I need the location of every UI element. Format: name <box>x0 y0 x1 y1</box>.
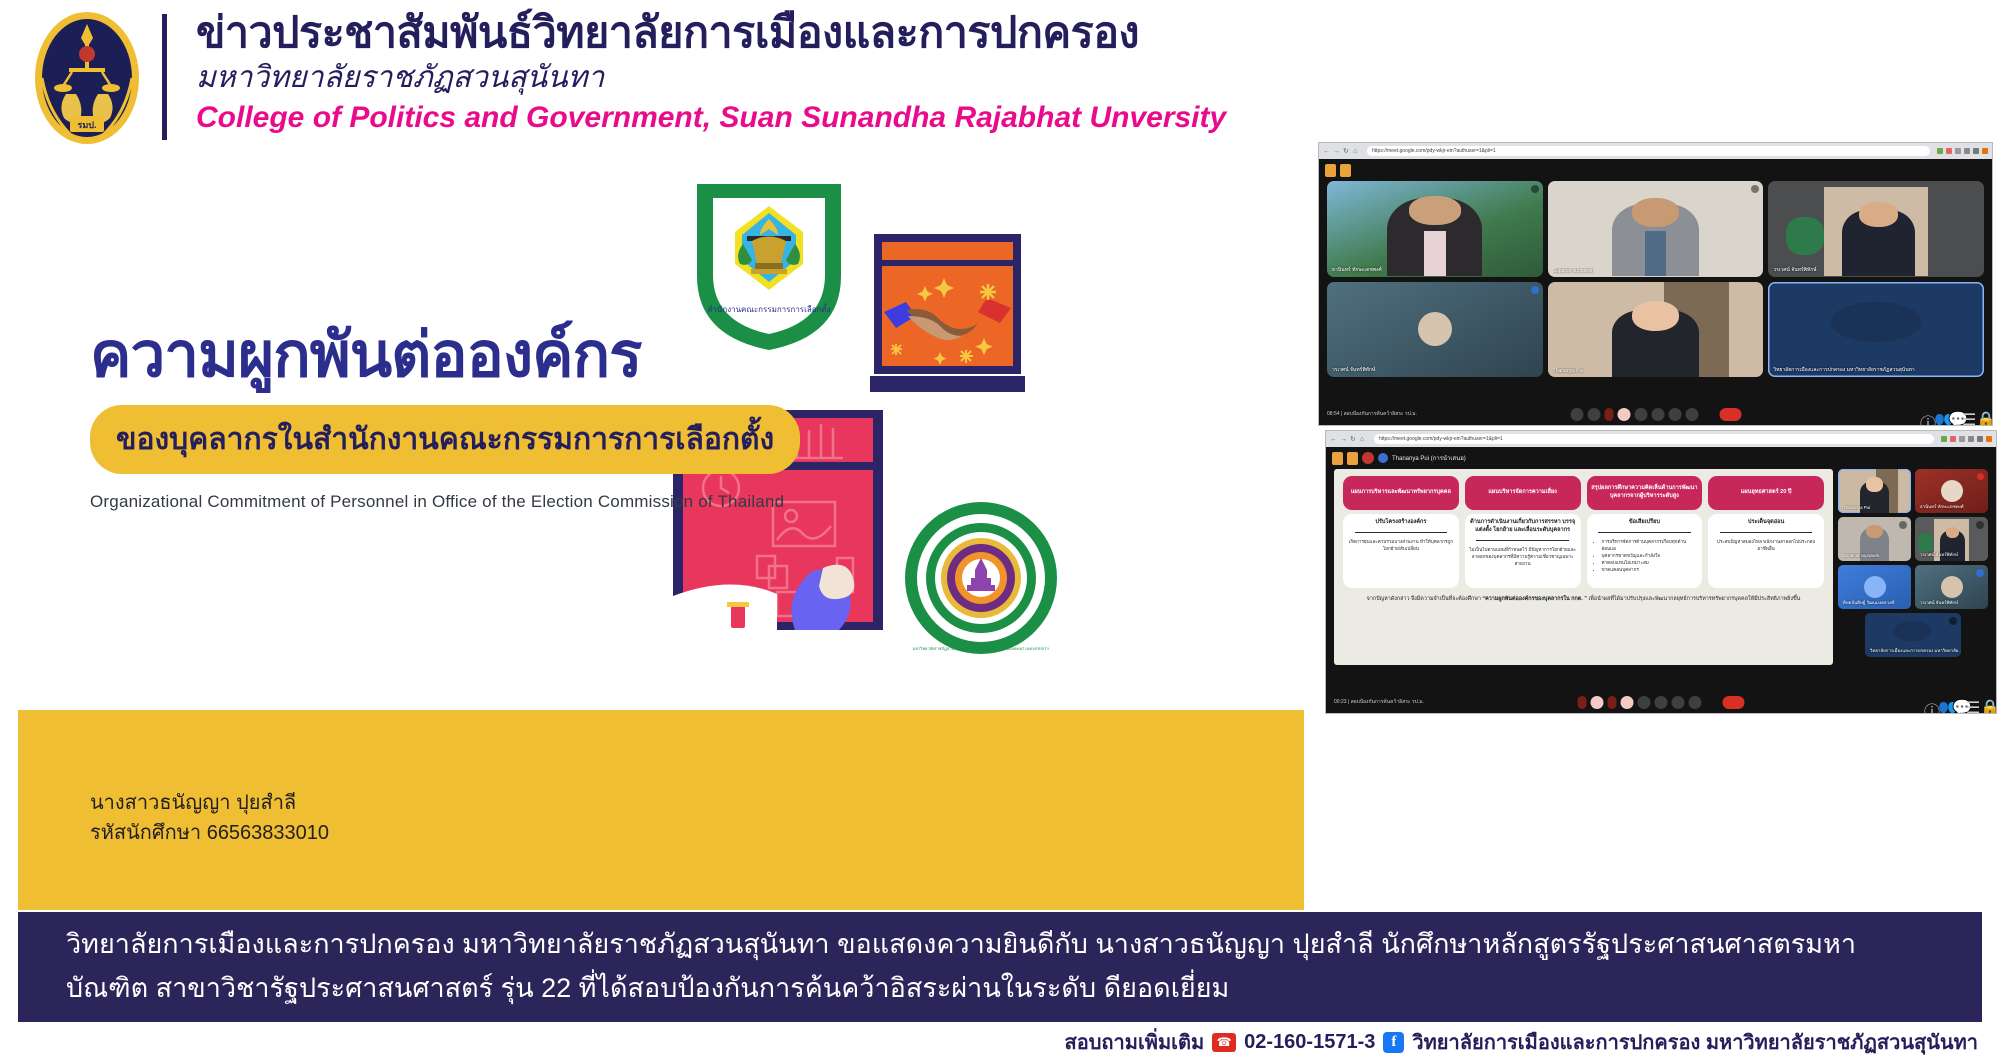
chat-icon[interactable]: 💬 <box>1948 410 1956 418</box>
more-menu-button[interactable] <box>1706 696 1719 709</box>
slide-card: แผนบริหารจัดการความเสี่ยง ด้านการดำเนินง… <box>1465 476 1581 588</box>
captions-button[interactable] <box>1634 408 1647 421</box>
emoji-reaction-button[interactable] <box>1655 696 1668 709</box>
emoji-reaction-button[interactable] <box>1651 408 1664 421</box>
student-id: รหัสนักศึกษา 66563833010 <box>90 818 329 848</box>
extension-icon-grey[interactable] <box>1959 436 1965 442</box>
header-text-block: ข่าวประชาสัมพันธ์วิทยาลัยการเมืองและการป… <box>196 10 1226 135</box>
slide-card-text: เกิดการยุบและควบรวมบางส่วนงาน ทำให้บุคลา… <box>1347 538 1455 552</box>
slide-card-bullets: การบริหารจัดการด้านบุคลากรเกือบทุกด้านอ่… <box>1591 538 1699 574</box>
meeting-details-icon[interactable]: ⓘ <box>1924 698 1932 706</box>
participant-name: วิทยาลัยการเมืองและการปกครอง มหาวิทยาลัย… <box>1870 647 1961 654</box>
bookmark-icon[interactable] <box>1964 148 1970 154</box>
participant-name: วรเวศน์ จันทร์พิทักษ์ <box>1920 599 1958 606</box>
ssru-university-seal-icon: มหาวิทยาลัยราชภัฏสวนสุนันทา SUAN SUNANDH… <box>903 500 1059 656</box>
microphone-off-button[interactable] <box>1591 696 1604 709</box>
forward-arrow-icon[interactable]: → <box>1333 148 1340 155</box>
page-header: รมป. ข่าวประชาสัมพันธ์วิทยาลัยการเมืองแล… <box>0 0 2000 160</box>
mic-status-icon <box>1531 286 1539 294</box>
side-participant-strip: Thananya Pui ธานินทร์ ทักษะเตชพงศ์ Supan… <box>1838 469 1988 665</box>
mic-status-icon <box>1751 185 1759 193</box>
meet-topbar <box>1319 159 1992 181</box>
captions-button[interactable] <box>1638 696 1651 709</box>
bookmark-icon[interactable] <box>1968 436 1974 442</box>
back-arrow-icon[interactable]: ← <box>1323 148 1330 155</box>
participant-name: Thananya Pui <box>1553 368 1584 374</box>
participant-name: วิทยาลัยการเมืองและการปกครอง มหาวิทยาลัย… <box>1773 366 1914 374</box>
poster-title-block: ความผูกพันต่อองค์กร ของบุคลากรในสำนักงาน… <box>90 320 830 512</box>
contact-footer: สอบถามเพิ่มเติม ☎ 02-160-1571-3 f วิทยาล… <box>1065 1027 1979 1057</box>
participant-tile[interactable]: วรเวศน์ จันทร์พิทักษ์ <box>1915 565 1988 609</box>
participant-tile[interactable]: ธานินทร์ ทักษะเตชพงศ์ <box>1327 181 1543 277</box>
banner-line-2: บัณฑิต สาขาวิชารัฐประศาสนศาสตร์ รุ่น 22 … <box>66 968 1942 1010</box>
notes-chip-icon[interactable] <box>1325 164 1336 177</box>
host-controls-icon[interactable]: 🔒 <box>1980 698 1988 706</box>
participant-tile[interactable]: วิทยาลัยการเมืองและการปกครอง มหาวิทยาลัย… <box>1865 613 1961 657</box>
poster-title-subtitle-en: Organizational Commitment of Personnel i… <box>90 492 830 512</box>
college-crest-icon: รมป. <box>28 8 146 148</box>
meet-viewport: Thananya Pui (การนำเสนอ) แผนการบริหารและ… <box>1326 447 1996 713</box>
meet-elapsed-time: 00:23 <box>1334 699 1347 705</box>
camera-off-button[interactable] <box>1617 408 1630 421</box>
extension-icon-red[interactable] <box>1946 148 1952 154</box>
participant-name: ธานินทร์ ทักษะเตชพงศ์ <box>1920 503 1964 510</box>
back-arrow-icon[interactable]: ← <box>1330 436 1337 443</box>
participant-name: ดิษยบันดิษฐ์ วัฒนมงคลวงศ์ <box>1843 599 1894 606</box>
poster-title-pill: ของบุคลากรในสำนักงานคณะกรรมการการเลือกตั… <box>90 405 800 474</box>
poster-title-main: ความผูกพันต่อองค์กร <box>90 320 830 391</box>
camera-off-button[interactable] <box>1621 696 1634 709</box>
mic-muted-icon <box>1976 521 1984 529</box>
participant-name: Supanat supnawin <box>1843 553 1879 558</box>
participants-icon[interactable]: 👥 <box>1934 410 1942 418</box>
slide-card-divider <box>1598 532 1691 533</box>
meet-right-controls: ⓘ 👥 💬 ☰ 🔒 <box>1920 410 1984 418</box>
slide-bullet: การบริหารจัดการด้านบุคลากรเกือบทุกด้านอ่… <box>1602 538 1699 552</box>
slide-card: สรุปผลการศึกษาความคิดเห็นด้านการพัฒนาบุค… <box>1587 476 1703 588</box>
slide-card-text: ไม่เป็นไปตามแผนที่กำหนดไว้ มีปัญหาการโยก… <box>1469 546 1577 567</box>
raise-hand-button[interactable] <box>1685 408 1698 421</box>
participant-tile[interactable]: ธานินทร์ ทักษะเตชพงศ์ <box>1915 469 1988 513</box>
profile-avatar-icon[interactable] <box>1973 148 1979 154</box>
meet-call-controls <box>1570 408 1741 421</box>
meet-topbar: Thananya Pui (การนำเสนอ) <box>1326 447 1996 469</box>
handshake-ballot-illustration <box>870 230 1025 410</box>
participant-name: วรเวศน์ จันทร์พิทักษ์ <box>1920 551 1958 558</box>
google-meet-gallery-screenshot: ← → ↻ ⌂ https://meet.google.com/pdy-wkjr… <box>1318 142 1993 426</box>
participant-tile[interactable]: วรเวศน์ จันทร์พิทักษ์ <box>1915 517 1988 561</box>
poster-artwork: สำนักงานคณะกรรมการการเลือกตั้ง <box>18 170 1304 910</box>
address-bar[interactable]: https://meet.google.com/pdy-wkjr-ein?aut… <box>1367 146 1930 156</box>
shared-slide[interactable]: แผนการบริหารและพัฒนาทรัพยากรบุคคล ปรับโค… <box>1334 469 1833 665</box>
header-divider <box>162 14 167 140</box>
participant-name: Supanat supnawin <box>1553 268 1594 274</box>
slide-card-heading: แผนบริหารจัดการความเสี่ยง <box>1465 476 1581 510</box>
meet-footer-bar: 00:23 | สอบป้องกันการค้นคว้าอิสระ รป.ม. <box>1326 691 1996 713</box>
leave-call-button[interactable] <box>1723 696 1745 709</box>
participant-tile[interactable]: Supanat supnawin <box>1838 517 1911 561</box>
participant-tile[interactable]: ดิษยบันดิษฐ์ วัฒนมงคลวงศ์ <box>1838 565 1911 609</box>
slide-bullet: ค่าตอบแทนไม่เหมาะสม <box>1602 559 1699 566</box>
congratulation-banner: วิทยาลัยการเมืองและการปกครอง มหาวิทยาลัย… <box>18 912 1982 1022</box>
browser-menu-icon[interactable] <box>1986 436 1992 442</box>
presentation-area: แผนการบริหารและพัฒนาทรัพยากรบุคคล ปรับโค… <box>1326 469 1996 665</box>
participant-tile[interactable]: วรเวศน์ จันทร์พิทักษ์ <box>1768 181 1984 277</box>
extension-icon-green[interactable] <box>1937 148 1943 154</box>
camera-caret-button[interactable] <box>1608 696 1617 709</box>
slide-card-divider <box>1720 532 1813 533</box>
meet-footer-status: 08:54 | สอบป้องกันการค้นคว้าอิสระ รป.ม. <box>1327 410 1417 418</box>
presenter-label: Thananya Pui (การนำเสนอ) <box>1392 453 1466 463</box>
participant-tile-selected[interactable]: วิทยาลัยการเมืองและการปกครอง มหาวิทยาลัย… <box>1768 282 1984 378</box>
slide-card-row: แผนการบริหารและพัฒนาทรัพยากรบุคคล ปรับโค… <box>1343 476 1824 588</box>
meet-call-controls <box>1578 696 1745 709</box>
activities-icon[interactable]: ☰ <box>1962 410 1970 418</box>
participant-tile-selected[interactable]: Thananya Pui <box>1838 469 1911 513</box>
notes-chip-icon[interactable] <box>1332 452 1343 465</box>
contact-phone: 02-160-1571-3 <box>1244 1031 1375 1054</box>
slide-card-body: ข้อเสียเปรียบ การบริหารจัดการด้านบุคลากร… <box>1587 514 1703 588</box>
forward-arrow-icon[interactable]: → <box>1340 436 1347 443</box>
activities-icon[interactable]: ☰ <box>1966 698 1974 706</box>
slide-conclusion-part2: เพื่อนำผลที่ได้มาปรับปรุงและพัฒนากลยุทธ์… <box>1587 596 1800 602</box>
meet-title-label: สอบป้องกันการค้นคว้าอิสระ รป.ม. <box>1351 699 1424 705</box>
participant-grid: ธานินทร์ ทักษะเตชพงศ์ Supanat supnawin ว… <box>1319 181 1992 377</box>
slide-card-heading: สรุปผลการศึกษาความคิดเห็นด้านการพัฒนาบุค… <box>1587 476 1703 510</box>
address-bar[interactable]: https://meet.google.com/pdy-wkjr-ein?aut… <box>1374 434 1934 444</box>
mic-muted-icon <box>1899 521 1907 529</box>
slide-card-title: ประเด็นจุดอ่อน <box>1748 519 1784 527</box>
home-icon[interactable]: ⌂ <box>1353 148 1360 155</box>
meet-elapsed-time: 08:54 <box>1327 411 1340 417</box>
ecs-shield-caption: สำนักงานคณะกรรมการการเลือกตั้ง <box>708 303 831 314</box>
slide-card-text: ประสบปัญหาสมองไหล พนักงานลาออกไปประกอบอา… <box>1712 538 1820 552</box>
facebook-icon[interactable]: f <box>1383 1032 1404 1053</box>
mic-status-icon <box>1531 185 1539 193</box>
chrome-extension-icons <box>1937 148 1988 154</box>
participant-name: วรเวศน์ จันทร์พิทักษ์ <box>1773 266 1816 274</box>
header-title-th: ข่าวประชาสัมพันธ์วิทยาลัยการเมืองและการป… <box>196 10 1226 57</box>
document-chip-icon[interactable] <box>1340 164 1351 177</box>
reload-icon[interactable]: ↻ <box>1350 436 1357 443</box>
document-chip-icon[interactable] <box>1347 452 1358 465</box>
more-menu-button[interactable] <box>1702 408 1715 421</box>
chat-icon[interactable]: 💬 <box>1952 698 1960 706</box>
presenting-banner: Thananya Pui (การนำเสนอ) <box>1378 453 1466 463</box>
slide-card-body: ปรับโครงสร้างองค์กร เกิดการยุบและควบรวมบ… <box>1343 514 1459 588</box>
raise-hand-button[interactable] <box>1689 696 1702 709</box>
participant-name: วรเวศน์ จันทร์พิทักษ์ <box>1332 366 1375 374</box>
mic-caret-button[interactable] <box>1578 696 1587 709</box>
google-meet-presentation-screenshot: ← → ↻ ⌂ https://meet.google.com/pdy-wkjr… <box>1325 430 1997 714</box>
slide-conclusion-part1: จากปัญหาดังกล่าว จึงมีความจำเป็นที่จะต้อ… <box>1367 596 1483 602</box>
more-options-button[interactable] <box>1570 408 1583 421</box>
slide-card: แผนการบริหารและพัฒนาทรัพยากรบุคคล ปรับโค… <box>1343 476 1459 588</box>
slide-card-title: ด้านการดำเนินงานเกี่ยวกับการสรรหา บรรจุ … <box>1469 519 1577 535</box>
participant-tile[interactable]: วรเวศน์ จันทร์พิทักษ์ <box>1327 282 1543 378</box>
present-screen-button[interactable] <box>1672 696 1685 709</box>
profile-avatar-icon[interactable] <box>1977 436 1983 442</box>
mic-muted-icon <box>1949 617 1957 625</box>
contact-prefix: สอบถามเพิ่มเติม <box>1065 1026 1205 1058</box>
present-screen-button[interactable] <box>1668 408 1681 421</box>
slide-bullet: บุคลากรขาดขวัญและกำลังใจ <box>1602 552 1699 559</box>
slide-card-heading: แผนยุทธศาสตร์ 20 ปี <box>1708 476 1824 510</box>
microphone-button[interactable] <box>1587 408 1600 421</box>
telephone-icon: ☎ <box>1212 1033 1236 1052</box>
poster-title-pill-label: ของบุคลากรในสำนักงานคณะกรรมการการเลือกตั… <box>116 423 774 456</box>
slide-card-divider <box>1355 532 1448 533</box>
slide-card-title: ข้อเสียเปรียบ <box>1629 519 1660 527</box>
slide-card-heading: แผนการบริหารและพัฒนาทรัพยากรบุคคล <box>1343 476 1459 510</box>
meet-right-controls: ⓘ 👥 💬 ☰ 🔒 <box>1924 698 1988 706</box>
crest-abbrev: รมป. <box>78 120 97 130</box>
participant-tile[interactable]: Thananya Pui <box>1548 282 1764 378</box>
presenter-avatar <box>1378 453 1388 463</box>
participant-tile[interactable]: Supanat supnawin <box>1548 181 1764 277</box>
meet-footer-status: 00:23 | สอบป้องกันการค้นคว้าอิสระ รป.ม. <box>1334 698 1424 706</box>
browser-menu-icon[interactable] <box>1982 148 1988 154</box>
slide-card: แผนยุทธศาสตร์ 20 ปี ประเด็นจุดอ่อน ประสบ… <box>1708 476 1824 588</box>
participant-name: ธานินทร์ ทักษะเตชพงศ์ <box>1332 266 1382 274</box>
extension-icon-red[interactable] <box>1950 436 1956 442</box>
banner-line-1: วิทยาลัยการเมืองและการปกครอง มหาวิทยาลัย… <box>66 924 1942 966</box>
meet-title-label: สอบป้องกันการค้นคว้าอิสระ รป.ม. <box>1344 411 1417 417</box>
header-subtitle-th: มหาวิทยาลัยราชภัฏสวนสุนันทา <box>196 61 1226 96</box>
meet-footer-bar: 08:54 | สอบป้องกันการค้นคว้าอิสระ รป.ม. <box>1319 403 1992 425</box>
host-controls-icon[interactable]: 🔒 <box>1976 410 1984 418</box>
participants-icon[interactable]: 👥 <box>1938 698 1946 706</box>
mic-muted-icon <box>1977 473 1984 480</box>
meet-viewport: ธานินทร์ ทักษะเตชพงศ์ Supanat supnawin ว… <box>1319 159 1992 425</box>
slide-card-body: ด้านการดำเนินงานเกี่ยวกับการสรรหา บรรจุ … <box>1465 514 1581 588</box>
recording-indicator-icon <box>1362 452 1374 464</box>
student-info: นางสาวธนัญญา ปุยสำลี รหัสนักศึกษา 665638… <box>90 788 329 848</box>
student-name: นางสาวธนัญญา ปุยสำลี <box>90 788 329 818</box>
mic-muted-icon <box>1976 569 1984 577</box>
slide-conclusion: จากปัญหาดังกล่าว จึงมีความจำเป็นที่จะต้อ… <box>1343 595 1824 604</box>
leave-call-button[interactable] <box>1719 408 1741 421</box>
slide-card-divider <box>1476 540 1569 541</box>
slide-bullet: ขาดแคลนบุคลากร <box>1602 566 1699 573</box>
contact-facebook-page: วิทยาลัยการเมืองและการปกครอง มหาวิทยาลัย… <box>1412 1026 1978 1058</box>
camera-caret-button[interactable] <box>1604 408 1613 421</box>
header-subtitle-en: College of Politics and Government, Suan… <box>196 101 1226 136</box>
chrome-extension-icons <box>1941 436 1992 442</box>
meeting-details-icon[interactable]: ⓘ <box>1920 410 1928 418</box>
browser-chrome-toolbar: ← → ↻ ⌂ https://meet.google.com/pdy-wkjr… <box>1319 143 1992 159</box>
extension-icon-grey[interactable] <box>1955 148 1961 154</box>
slide-conclusion-highlight: “ความผูกพันต่อองค์กรของบุคลากรใน กกต. ” <box>1482 596 1587 602</box>
browser-chrome-toolbar: ← → ↻ ⌂ https://meet.google.com/pdy-wkjr… <box>1326 431 1996 447</box>
slide-card-title: ปรับโครงสร้างองค์กร <box>1375 519 1426 527</box>
home-icon[interactable]: ⌂ <box>1360 436 1367 443</box>
extension-icon-green[interactable] <box>1941 436 1947 442</box>
slide-card-body: ประเด็นจุดอ่อน ประสบปัญหาสมองไหล พนักงาน… <box>1708 514 1824 588</box>
participant-name: Thananya Pui <box>1843 505 1870 510</box>
poster-page: รมป. ข่าวประชาสัมพันธ์วิทยาลัยการเมืองแล… <box>0 0 2000 1059</box>
reload-icon[interactable]: ↻ <box>1343 148 1350 155</box>
